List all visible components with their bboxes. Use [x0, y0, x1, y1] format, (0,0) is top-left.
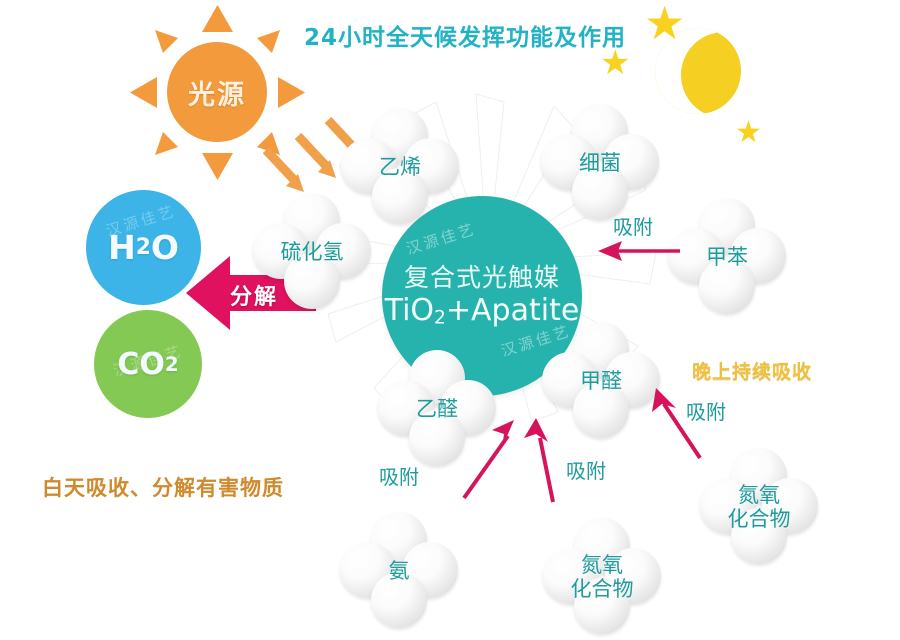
molecule-label: 氮氧化合物 [543, 518, 661, 636]
product-circle-h2o: H2O [86, 190, 201, 305]
star-icon-bottom: ★ [735, 118, 762, 148]
light-source-label: 光源 [188, 73, 246, 112]
photocatalyst-diagram: 24小时全天候发挥功能及作用 光源 [0, 0, 900, 640]
adsorb-label-bottom-left: 吸附 [379, 461, 419, 490]
adsorb-arrow-bottom-mid-icon [520, 418, 576, 504]
caption-day: 白天吸收、分解有害物质 [42, 472, 284, 502]
molecule-label: 氨 [340, 512, 458, 630]
molecule-bacteria: 细菌 [541, 104, 659, 222]
molecule-label: 硫化氢 [253, 193, 371, 311]
co2-prefix: CO [117, 347, 165, 382]
h2o-suffix: O [151, 228, 179, 267]
molecule-label: 细菌 [541, 104, 659, 222]
molecule-nox-right: 氮氧化合物 [700, 448, 818, 566]
core-en-subscript: 2 [434, 308, 446, 329]
star-icon-left: ★ [600, 46, 630, 80]
molecule-hydrogen-sulfide: 硫化氢 [253, 193, 371, 311]
star-icon-top: ★ [644, 0, 685, 46]
core-en-prefix: TiO [385, 293, 434, 328]
adsorb-arrow-right-icon [598, 240, 680, 262]
h2o-prefix: H [108, 228, 136, 267]
molecule-nox-bottom: 氮氧化合物 [543, 518, 661, 636]
adsorb-arrow-bottom-left-icon [452, 420, 516, 502]
molecule-label: 甲苯 [668, 198, 786, 316]
adsorb-label-right: 吸附 [613, 211, 653, 240]
molecule-toluene: 甲苯 [668, 198, 786, 316]
adsorb-arrow-bottom-right-icon [650, 388, 710, 462]
molecule-label: 氮氧化合物 [700, 448, 818, 566]
page-title: 24小时全天候发挥功能及作用 [304, 18, 626, 52]
co2-subscript: 2 [165, 353, 179, 376]
molecule-ammonia: 氨 [340, 512, 458, 630]
sun-core: 光源 [167, 42, 267, 142]
h2o-subscript: 2 [136, 235, 151, 260]
caption-night: 晚上持续吸收 [692, 357, 812, 384]
core-label-cn: 复合式光触媒 [404, 262, 560, 293]
